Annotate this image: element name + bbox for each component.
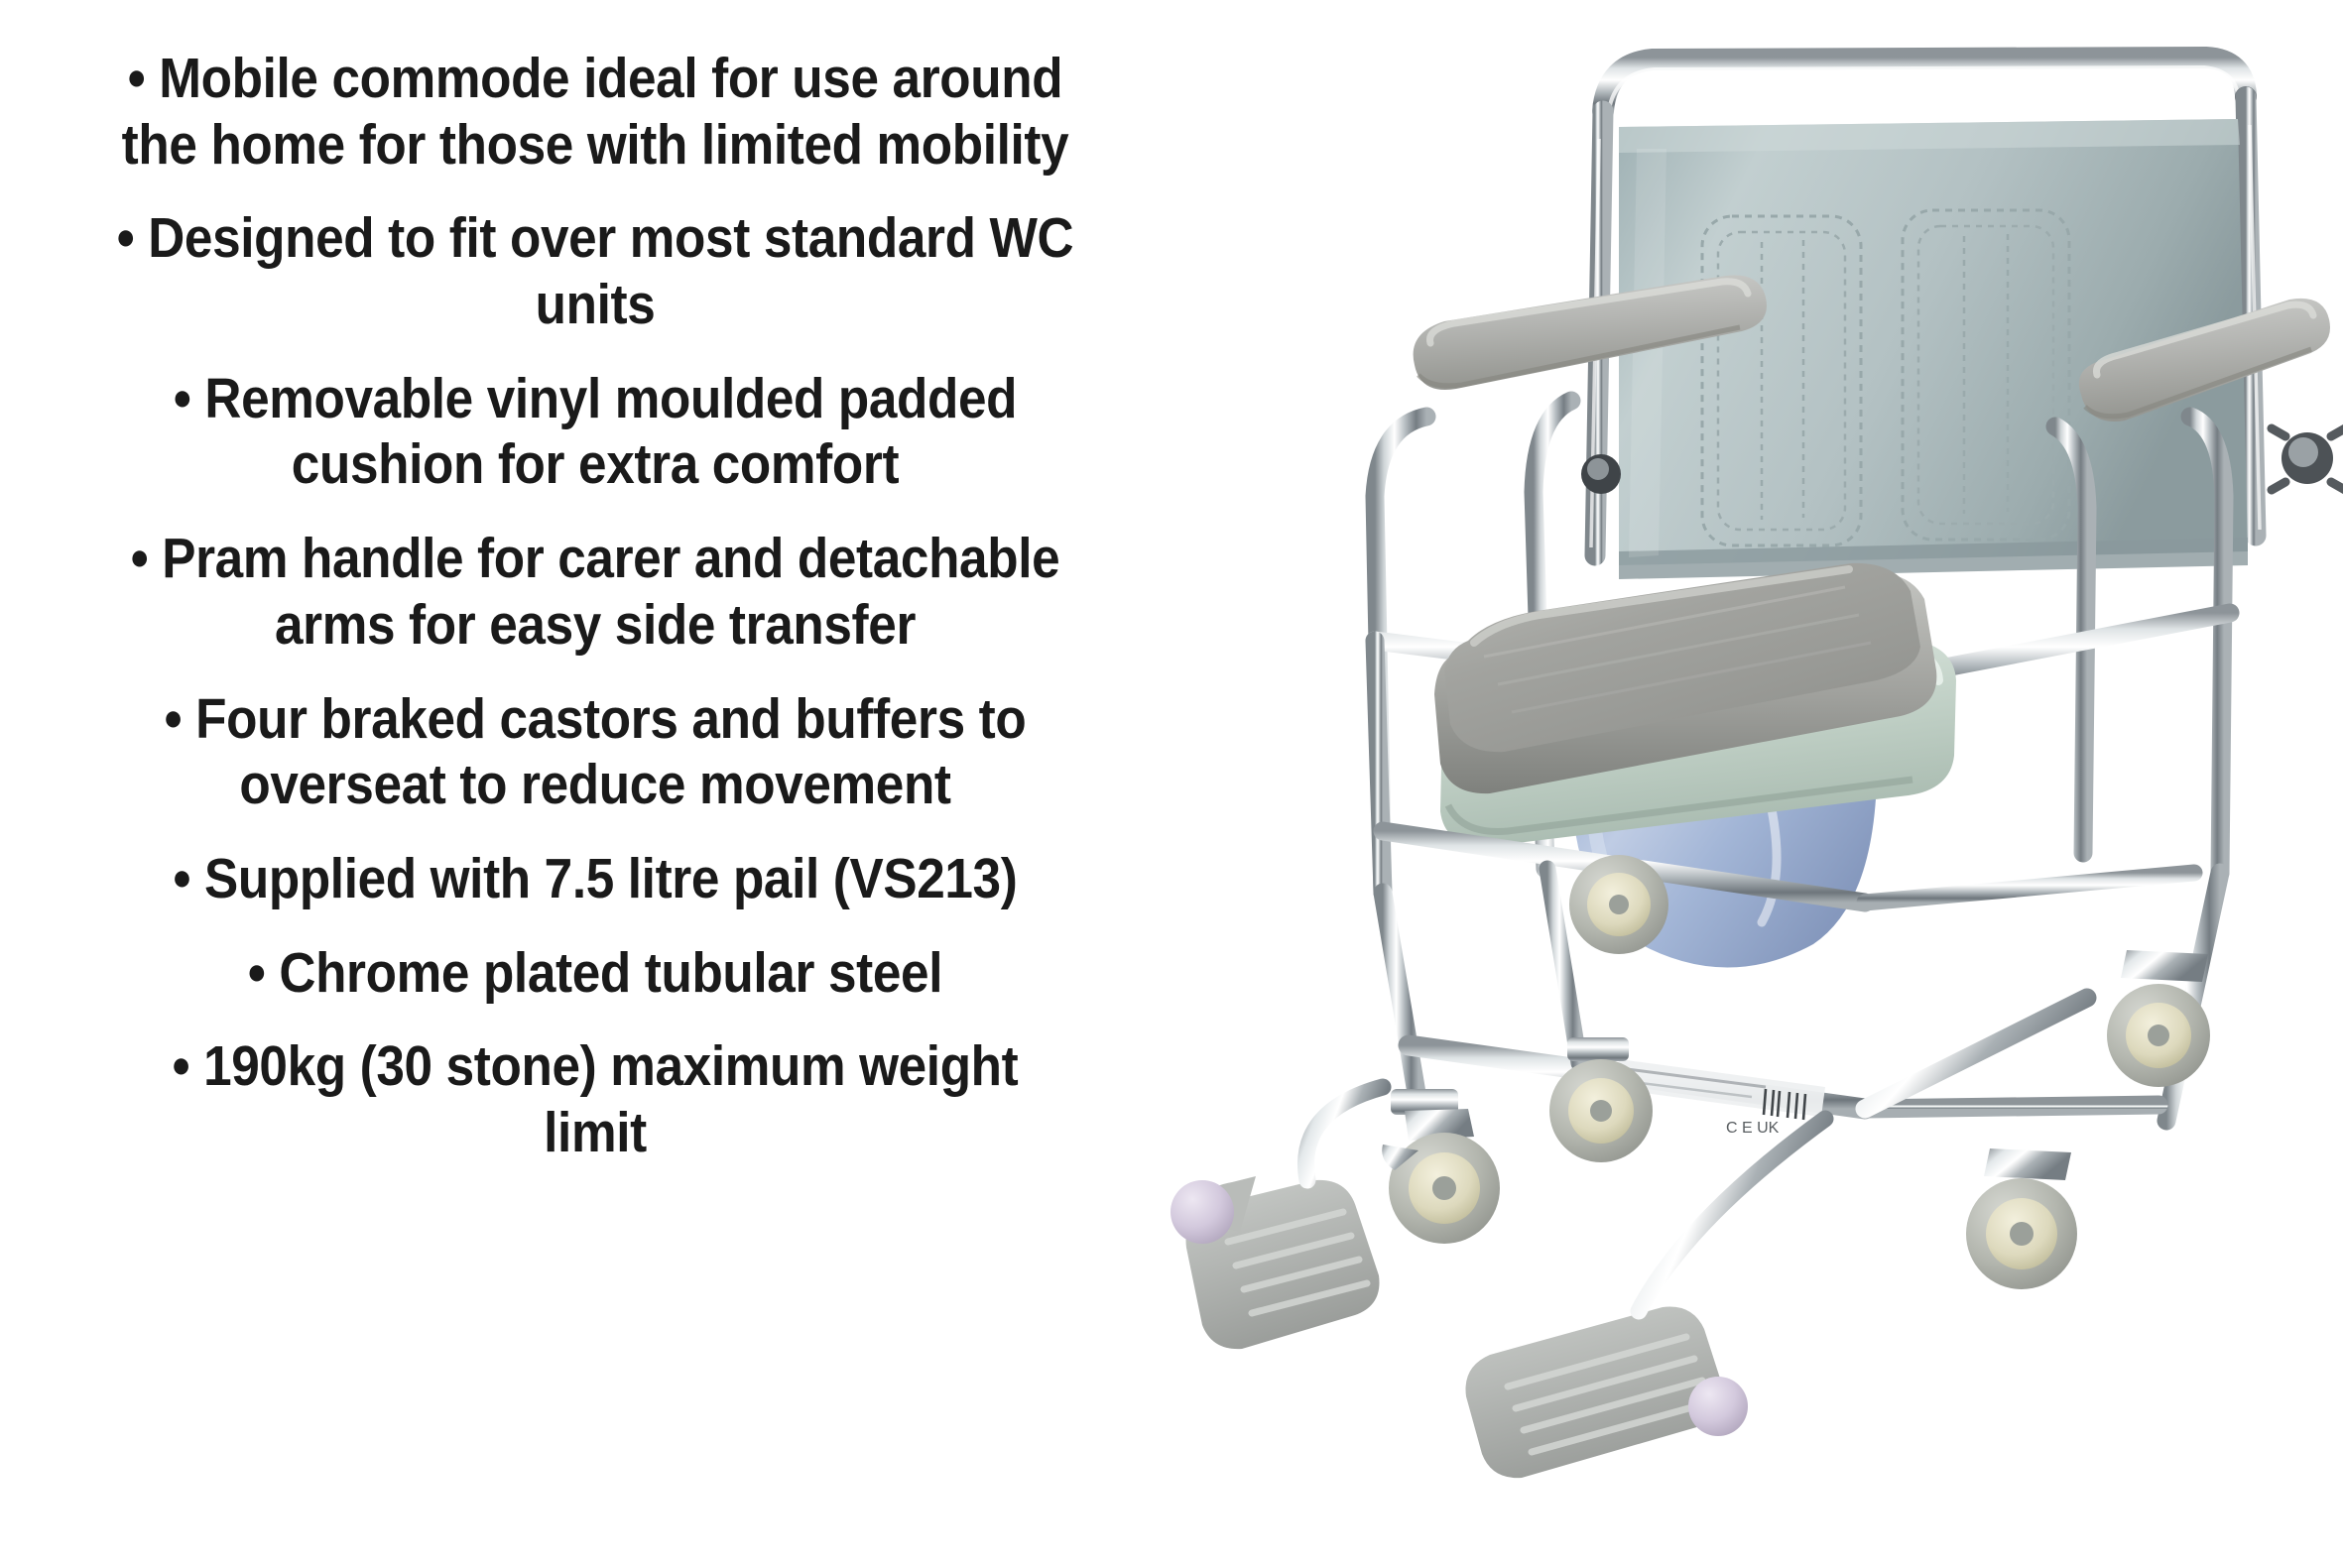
armrest-release-knob-right[interactable] [2272, 428, 2343, 490]
feature-item-supplied-pail: • Supplied with 7.5 litre pail (VS213) [113, 846, 1077, 912]
feature-item-weight-limit: • 190kg (30 stone) maximum weight limit [113, 1033, 1077, 1165]
feature-list: • Mobile commode ideal for use around th… [0, 0, 1171, 1568]
feature-item-chrome-steel: • Chrome plated tubular steel [113, 940, 1077, 1007]
feature-item-mobile-commode: • Mobile commode ideal for use around th… [113, 46, 1077, 178]
feature-item-braked-castors: • Four braked castors and buffers to ove… [113, 686, 1077, 818]
feature-item-fits-wc-units: • Designed to fit over most standard WC … [113, 205, 1077, 337]
castor-under-pail [1569, 855, 1668, 954]
commode-chair-illustration: C E UK [1171, 0, 2343, 1568]
feature-item-pram-handle-arms: • Pram handle for carer and detachable a… [113, 526, 1077, 658]
armrest-release-knob-left[interactable] [1581, 454, 1621, 494]
heel-buffer-left [1171, 1180, 1234, 1244]
feature-item-removable-cushion: • Removable vinyl moulded padded cushion… [113, 366, 1077, 498]
product-image-commode-chair: C E UK [1171, 0, 2343, 1568]
heel-buffer-right [1688, 1377, 1748, 1436]
product-feature-page: • Mobile commode ideal for use around th… [0, 0, 2343, 1568]
castor-rear-right-upper [2107, 950, 2210, 1087]
svg-text:C E UK: C E UK [1726, 1120, 1780, 1137]
